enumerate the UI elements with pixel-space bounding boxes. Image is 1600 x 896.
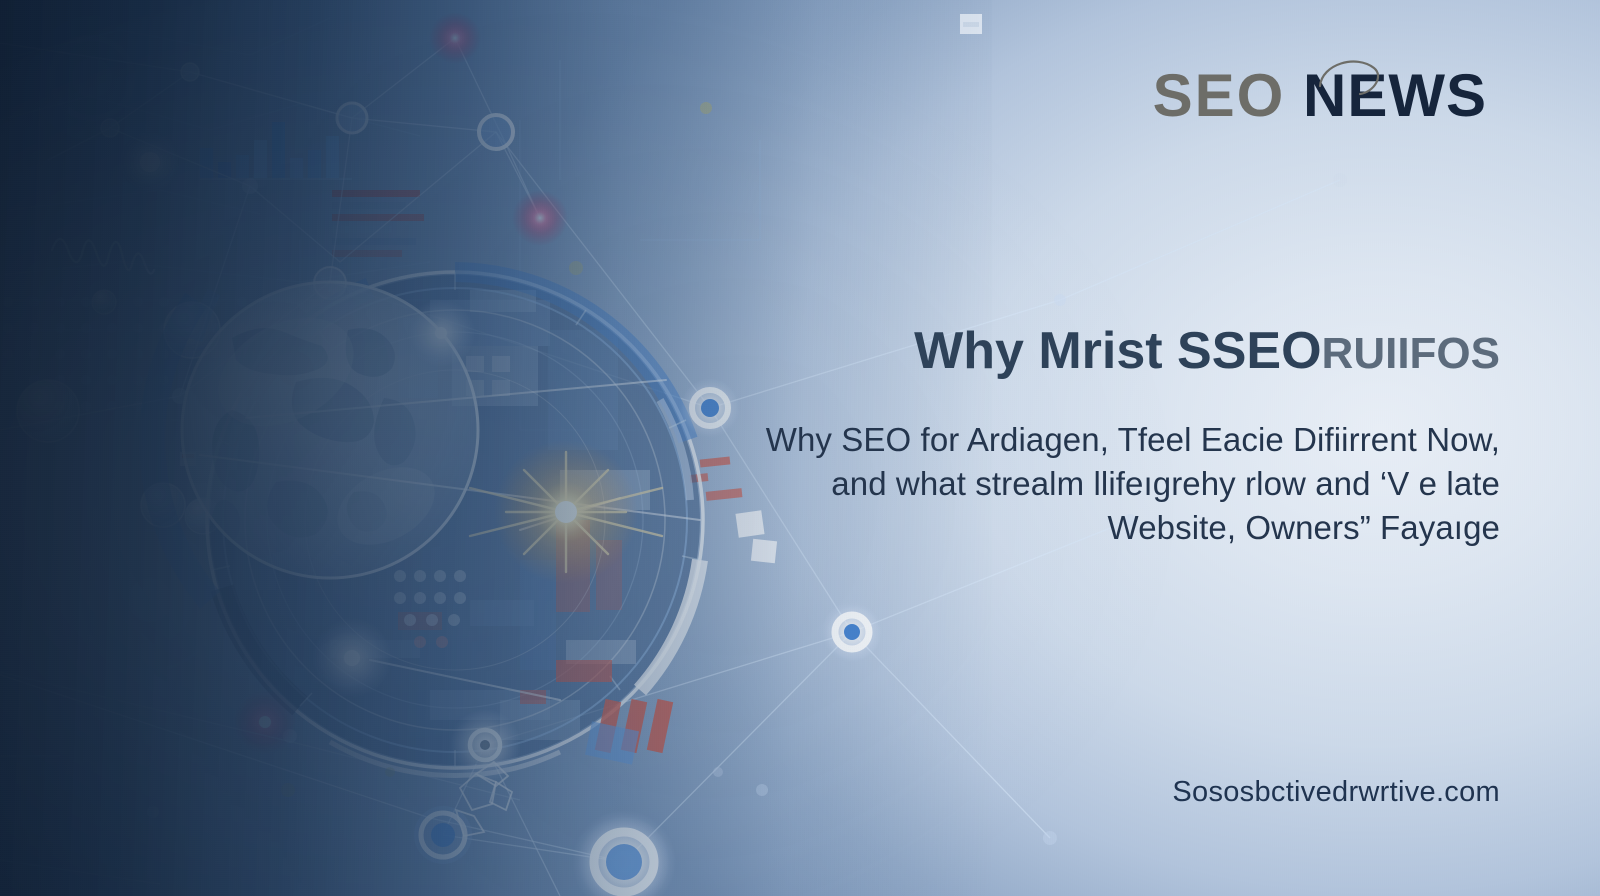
brand-logo: SEO NEWS <box>1153 66 1487 126</box>
site-url: Sososbctivedrwrtive.com <box>1172 776 1500 809</box>
subheadline-line-1: Why SEO for Ardiagen, Tfeel Eacie Difiir… <box>740 418 1500 462</box>
seo-news-banner: SEO NEWS Why Mrist SSEORUIIFOS Why SEO f… <box>0 0 1600 896</box>
headline-alt: RUIIFOS <box>1322 329 1500 378</box>
subheadline: Why SEO for Ardiagen, Tfeel Eacie Difiir… <box>740 418 1500 550</box>
headline-main: Why Mrist SSEO <box>914 322 1321 380</box>
subheadline-line-3: Website, Owners” Fayaıge <box>740 506 1500 550</box>
logo-seo-text: SEO <box>1153 62 1286 129</box>
subheadline-line-2: and what strealm llifeıgrehy rlow and ‘V… <box>740 462 1500 506</box>
page-title: Why Mrist SSEORUIIFOS <box>914 324 1500 379</box>
logo-news-text: NEWS <box>1303 62 1487 129</box>
